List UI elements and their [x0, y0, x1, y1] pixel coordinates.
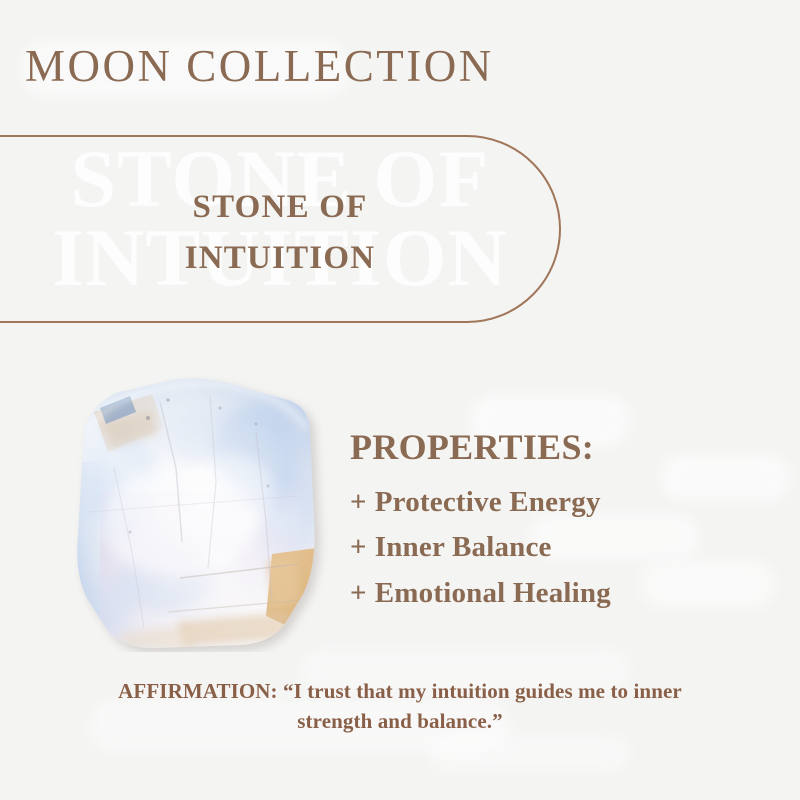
moonstone-crystal-icon: [60, 372, 330, 652]
property-label: Inner Balance: [375, 531, 552, 563]
plus-icon: +: [350, 531, 367, 563]
page-title: MOON COLLECTION: [25, 44, 494, 89]
decorative-blob: [430, 735, 630, 771]
affirmation-line2: strength and balance.”: [40, 706, 760, 736]
plus-icon: +: [350, 577, 367, 609]
properties-section: PROPERTIES: +Protective Energy +Inner Ba…: [350, 428, 770, 617]
properties-heading: PROPERTIES:: [350, 428, 770, 468]
badge-title-line1: STONE OF: [20, 182, 540, 233]
list-item: +Emotional Healing: [350, 571, 770, 617]
affirmation-line1: AFFIRMATION: “I trust that my intuition …: [40, 676, 760, 706]
affirmation-text: AFFIRMATION: “I trust that my intuition …: [40, 676, 760, 737]
stone-info-card: MOON COLLECTION STONE OF INTUITION STONE…: [0, 0, 800, 800]
badge-title: STONE OF INTUITION: [20, 182, 540, 284]
property-label: Emotional Healing: [375, 577, 611, 609]
list-item: +Inner Balance: [350, 525, 770, 571]
property-label: Protective Energy: [375, 486, 601, 518]
badge-title-line2: INTUITION: [20, 233, 540, 284]
plus-icon: +: [350, 486, 367, 518]
list-item: +Protective Energy: [350, 480, 770, 526]
